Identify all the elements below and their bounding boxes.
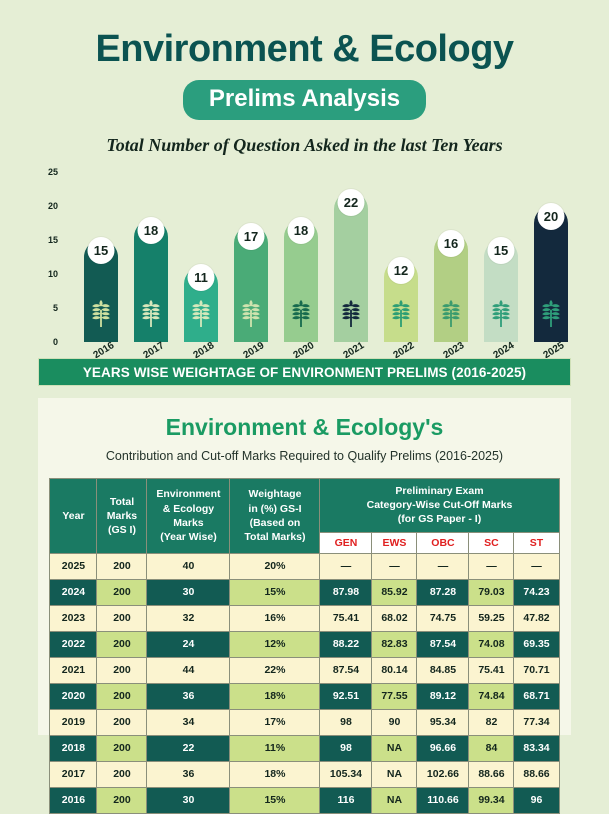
wheat-icon-wrap <box>392 300 411 332</box>
wheat-icon-wrap <box>492 300 511 332</box>
banner-label: YEARS WISE WEIGHTAGE OF ENVIRONMENT PREL… <box>83 365 526 380</box>
cell-total-marks: 200 <box>97 787 147 813</box>
cell-total-marks: 200 <box>97 553 147 579</box>
cell-sc: 82 <box>469 709 514 735</box>
table-body: 20252004020%—————20242003015%87.9885.928… <box>50 553 559 813</box>
bar-group: 162023 <box>434 172 468 342</box>
bar-value-badge: 12 <box>388 257 415 284</box>
pill-wrapper: Prelims Analysis <box>0 80 609 120</box>
cell-env-marks: 40 <box>147 553 230 579</box>
cell-total-marks: 200 <box>97 605 147 631</box>
y-axis-tick: 25 <box>48 167 58 177</box>
bar-value-badge: 15 <box>488 237 515 264</box>
bar-group: 152016 <box>84 172 118 342</box>
cell-year: 2019 <box>50 709 97 735</box>
wheat-icon-wrap <box>92 300 111 332</box>
cell-ews: 77.55 <box>372 683 417 709</box>
cell-gen: 92.51 <box>320 683 372 709</box>
cell-ews: 82.83 <box>372 631 417 657</box>
table-row: 20192003417%989095.348277.34 <box>50 709 559 735</box>
table-header-row-1: Year Total Marks (GS I) Environment & Ec… <box>50 479 559 533</box>
wheat-icon-wrap <box>142 300 161 332</box>
col-header-gen: GEN <box>320 532 372 553</box>
wheat-icon <box>392 300 411 327</box>
cell-gen: 87.98 <box>320 579 372 605</box>
table-head: Year Total Marks (GS I) Environment & Ec… <box>50 479 559 554</box>
cell-ews: — <box>372 553 417 579</box>
cell-weightage: 15% <box>230 787 320 813</box>
cell-ews: NA <box>372 735 417 761</box>
col-header-prelim-group: Preliminary Exam Category-Wise Cut-Off M… <box>320 479 559 533</box>
bar-group: 112018 <box>184 172 218 342</box>
wheat-icon <box>92 300 111 327</box>
bar-group: 222021 <box>334 172 368 342</box>
table-panel: Environment & Ecology's Contribution and… <box>38 398 571 735</box>
bar-value-badge: 18 <box>138 217 165 244</box>
bar-group: 182017 <box>134 172 168 342</box>
chart-plot-area: 1520161820171120181720191820202220211220… <box>70 172 599 342</box>
wheat-icon <box>142 300 161 327</box>
cell-st: 77.34 <box>514 709 559 735</box>
cell-st: 47.82 <box>514 605 559 631</box>
wheat-icon-wrap <box>192 300 211 332</box>
cell-env-marks: 24 <box>147 631 230 657</box>
years-weightage-banner: YEARS WISE WEIGHTAGE OF ENVIRONMENT PREL… <box>38 358 571 386</box>
table-row: 20242003015%87.9885.9287.2879.0374.23 <box>50 579 559 605</box>
cell-obc: 95.34 <box>417 709 469 735</box>
cell-obc: 96.66 <box>417 735 469 761</box>
y-axis-tick: 20 <box>48 201 58 211</box>
page-subtitle: Total Number of Question Asked in the la… <box>0 135 609 156</box>
cell-st: 96 <box>514 787 559 813</box>
cell-env-marks: 22 <box>147 735 230 761</box>
bar-value-badge: 22 <box>338 189 365 216</box>
cell-gen: 98 <box>320 735 372 761</box>
cell-env-marks: 30 <box>147 579 230 605</box>
cell-ews: 68.02 <box>372 605 417 631</box>
cell-weightage: 16% <box>230 605 320 631</box>
bar-group: 202025 <box>534 172 568 342</box>
col-header-obc: OBC <box>417 532 469 553</box>
panel-subtitle: Contribution and Cut-off Marks Required … <box>38 449 571 463</box>
cell-sc: 88.66 <box>469 761 514 787</box>
wheat-icon <box>542 300 561 327</box>
wheat-icon-wrap <box>292 300 311 332</box>
table-row: 20162003015%116NA110.6699.3496 <box>50 787 559 813</box>
cell-gen: 98 <box>320 709 372 735</box>
cell-sc: 74.84 <box>469 683 514 709</box>
wheat-icon <box>442 300 461 327</box>
cell-sc: 74.08 <box>469 631 514 657</box>
cell-gen: — <box>320 553 372 579</box>
cell-env-marks: 36 <box>147 761 230 787</box>
bar-group: 122022 <box>384 172 418 342</box>
cell-year: 2017 <box>50 761 97 787</box>
panel-title: Environment & Ecology's <box>38 414 571 441</box>
bar-value-badge: 11 <box>188 264 215 291</box>
cell-st: 74.23 <box>514 579 559 605</box>
cell-total-marks: 200 <box>97 683 147 709</box>
table-row: 20182002211%98NA96.668483.34 <box>50 735 559 761</box>
col-header-weightage: Weightage in (%) GS-I (Based on Total Ma… <box>230 479 320 554</box>
cell-total-marks: 200 <box>97 631 147 657</box>
cell-ews: 85.92 <box>372 579 417 605</box>
cell-gen: 75.41 <box>320 605 372 631</box>
cell-sc: — <box>469 553 514 579</box>
table-row: 20172003618%105.34NA102.6688.6688.66 <box>50 761 559 787</box>
cell-obc: 74.75 <box>417 605 469 631</box>
cell-st: 69.35 <box>514 631 559 657</box>
cell-sc: 59.25 <box>469 605 514 631</box>
page-header: Environment & Ecology Prelims Analysis T… <box>0 0 609 156</box>
col-header-ews: EWS <box>372 532 417 553</box>
table-row: 20232003216%75.4168.0274.7559.2547.82 <box>50 605 559 631</box>
cell-total-marks: 200 <box>97 709 147 735</box>
y-axis-tick: 10 <box>48 269 58 279</box>
cell-sc: 75.41 <box>469 657 514 683</box>
cell-year: 2025 <box>50 553 97 579</box>
wheat-icon <box>492 300 511 327</box>
cell-st: 88.66 <box>514 761 559 787</box>
cell-obc: 102.66 <box>417 761 469 787</box>
cell-total-marks: 200 <box>97 735 147 761</box>
bar-group: 172019 <box>234 172 268 342</box>
y-axis-tick: 0 <box>53 337 58 347</box>
cell-obc: 87.54 <box>417 631 469 657</box>
cell-weightage: 18% <box>230 683 320 709</box>
cell-weightage: 12% <box>230 631 320 657</box>
cell-gen: 105.34 <box>320 761 372 787</box>
cell-env-marks: 34 <box>147 709 230 735</box>
bar-value-badge: 15 <box>88 237 115 264</box>
bar-value-badge: 18 <box>288 217 315 244</box>
col-header-total-marks: Total Marks (GS I) <box>97 479 147 554</box>
wheat-icon <box>292 300 311 327</box>
y-axis: 0510152025 <box>0 172 70 342</box>
cell-year: 2020 <box>50 683 97 709</box>
cell-year: 2023 <box>50 605 97 631</box>
table-row: 20202003618%92.5177.5589.1274.8468.71 <box>50 683 559 709</box>
cell-year: 2024 <box>50 579 97 605</box>
cell-obc: 110.66 <box>417 787 469 813</box>
col-header-year: Year <box>50 479 97 554</box>
prelims-analysis-badge: Prelims Analysis <box>183 80 426 120</box>
col-header-sc: SC <box>469 532 514 553</box>
cell-sc: 84 <box>469 735 514 761</box>
cell-total-marks: 200 <box>97 579 147 605</box>
wheat-icon <box>342 300 361 327</box>
wheat-icon-wrap <box>442 300 461 332</box>
bar-value-badge: 20 <box>538 203 565 230</box>
bar-value-badge: 17 <box>238 223 265 250</box>
page-title: Environment & Ecology <box>0 30 609 68</box>
wheat-icon-wrap <box>242 300 261 332</box>
cell-total-marks: 200 <box>97 761 147 787</box>
table-row: 20252004020%————— <box>50 553 559 579</box>
cell-env-marks: 36 <box>147 683 230 709</box>
col-header-st: ST <box>514 532 559 553</box>
y-axis-tick: 5 <box>53 303 58 313</box>
wheat-icon <box>242 300 261 327</box>
cell-ews: NA <box>372 761 417 787</box>
cell-weightage: 20% <box>230 553 320 579</box>
wheat-icon-wrap <box>542 300 561 332</box>
cutoff-table: Year Total Marks (GS I) Environment & Ec… <box>49 478 559 814</box>
cell-weightage: 22% <box>230 657 320 683</box>
table-row: 20222002412%88.2282.8387.5474.0869.35 <box>50 631 559 657</box>
cell-year: 2021 <box>50 657 97 683</box>
bar-chart: 0510152025 15201618201711201817201918202… <box>0 172 609 372</box>
wheat-icon <box>192 300 211 327</box>
cell-gen: 116 <box>320 787 372 813</box>
cell-gen: 88.22 <box>320 631 372 657</box>
cell-st: 83.34 <box>514 735 559 761</box>
wheat-icon-wrap <box>342 300 361 332</box>
cell-weightage: 15% <box>230 579 320 605</box>
cell-obc: 89.12 <box>417 683 469 709</box>
cell-env-marks: 30 <box>147 787 230 813</box>
cell-obc: 87.28 <box>417 579 469 605</box>
bar-value-badge: 16 <box>438 230 465 257</box>
table-row: 20212004422%87.5480.1484.8575.4170.71 <box>50 657 559 683</box>
cell-obc: — <box>417 553 469 579</box>
cell-ews: 80.14 <box>372 657 417 683</box>
bar-group: 152024 <box>484 172 518 342</box>
cell-ews: 90 <box>372 709 417 735</box>
col-header-env-marks: Environment & Ecology Marks (Year Wise) <box>147 479 230 554</box>
cell-total-marks: 200 <box>97 657 147 683</box>
cell-weightage: 17% <box>230 709 320 735</box>
cell-st: 70.71 <box>514 657 559 683</box>
cell-obc: 84.85 <box>417 657 469 683</box>
cell-weightage: 18% <box>230 761 320 787</box>
cell-st: 68.71 <box>514 683 559 709</box>
cell-year: 2018 <box>50 735 97 761</box>
cell-st: — <box>514 553 559 579</box>
cell-env-marks: 44 <box>147 657 230 683</box>
cell-year: 2022 <box>50 631 97 657</box>
cell-sc: 79.03 <box>469 579 514 605</box>
cell-year: 2016 <box>50 787 97 813</box>
cell-ews: NA <box>372 787 417 813</box>
bar-group: 182020 <box>284 172 318 342</box>
cell-gen: 87.54 <box>320 657 372 683</box>
cell-env-marks: 32 <box>147 605 230 631</box>
y-axis-tick: 15 <box>48 235 58 245</box>
cell-sc: 99.34 <box>469 787 514 813</box>
cell-weightage: 11% <box>230 735 320 761</box>
